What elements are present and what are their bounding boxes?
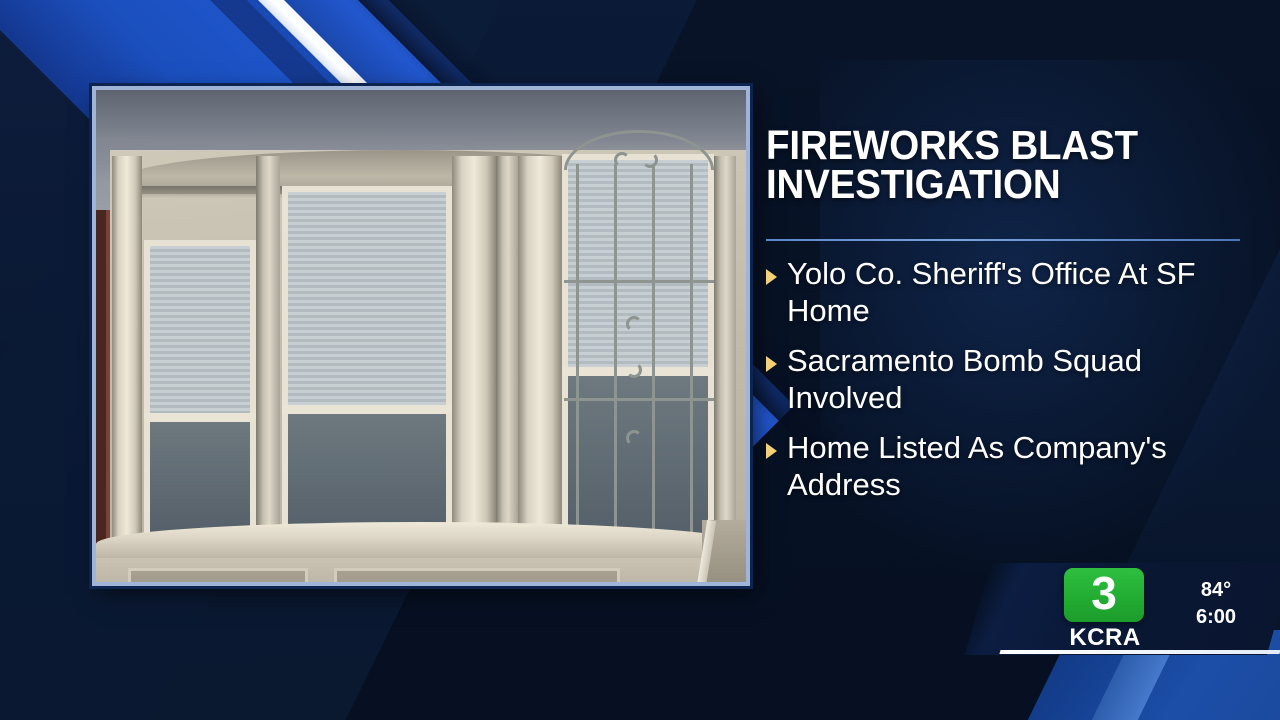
photo-pilaster <box>112 156 142 576</box>
photo-window-right <box>562 154 714 542</box>
headline-line-1: FIREWORKS BLAST <box>766 126 1217 165</box>
photo-sill-band <box>96 522 746 562</box>
station-bug-underline <box>999 650 1280 654</box>
photo-pilaster <box>256 156 280 576</box>
list-item: Yolo Co. Sheriff's Office At SF Home <box>766 256 1256 329</box>
photo-window-glass <box>288 405 446 536</box>
triangle-right-icon <box>766 356 777 372</box>
photo-blind <box>568 160 708 367</box>
bullet-text: Home Listed As Company's Address <box>787 430 1207 503</box>
photo-neighbor-wall-shade <box>96 210 106 582</box>
photo-pilaster <box>518 156 562 576</box>
triangle-right-icon <box>766 443 777 459</box>
channel-number: 3 <box>1091 570 1117 616</box>
news-photo-frame <box>92 86 750 586</box>
photo-pilaster <box>452 156 496 576</box>
weather-time-block: 84° 6:00 <box>1174 577 1258 631</box>
station-bug: 3 KCRA 84° 6:00 <box>965 563 1280 655</box>
photo-window-glass <box>568 367 708 536</box>
list-item: Sacramento Bomb Squad Involved <box>766 343 1256 416</box>
station-callsign: KCRA <box>1064 624 1146 652</box>
photo-blind <box>288 192 446 405</box>
channel-number-badge: 3 <box>1064 568 1144 622</box>
photo-pilaster <box>496 156 518 576</box>
photo-window-mullion <box>282 405 452 414</box>
photo-blind <box>150 246 250 413</box>
headline-line-2: INVESTIGATION <box>766 165 1217 204</box>
clock-value: 6:00 <box>1174 604 1258 631</box>
page-title: FIREWORKS BLAST INVESTIGATION <box>766 126 1217 204</box>
headline-divider <box>766 239 1240 241</box>
broadcast-screen: FIREWORKS BLAST INVESTIGATION Yolo Co. S… <box>0 0 1280 720</box>
photo-window-left <box>144 240 256 540</box>
photo-skirt-panel <box>128 568 308 582</box>
photo-window-mullion <box>144 413 256 422</box>
photo-skirt-panel <box>334 568 620 582</box>
bullet-list: Yolo Co. Sheriff's Office At SF Home Sac… <box>766 256 1256 517</box>
list-item: Home Listed As Company's Address <box>766 430 1256 503</box>
photo-window-mullion <box>562 367 714 376</box>
bullet-text: Yolo Co. Sheriff's Office At SF Home <box>787 256 1207 329</box>
triangle-right-icon <box>766 269 777 285</box>
photo-window-center <box>282 186 452 542</box>
station-bug-inner: 3 KCRA 84° 6:00 <box>978 563 1280 655</box>
bullet-text: Sacramento Bomb Squad Involved <box>787 343 1207 416</box>
temperature-value: 84° <box>1174 577 1258 604</box>
news-photo <box>96 90 746 582</box>
kcra-logo: 3 KCRA <box>1064 568 1146 652</box>
photo-window-glass <box>150 413 250 534</box>
photo-pilaster <box>714 156 736 576</box>
